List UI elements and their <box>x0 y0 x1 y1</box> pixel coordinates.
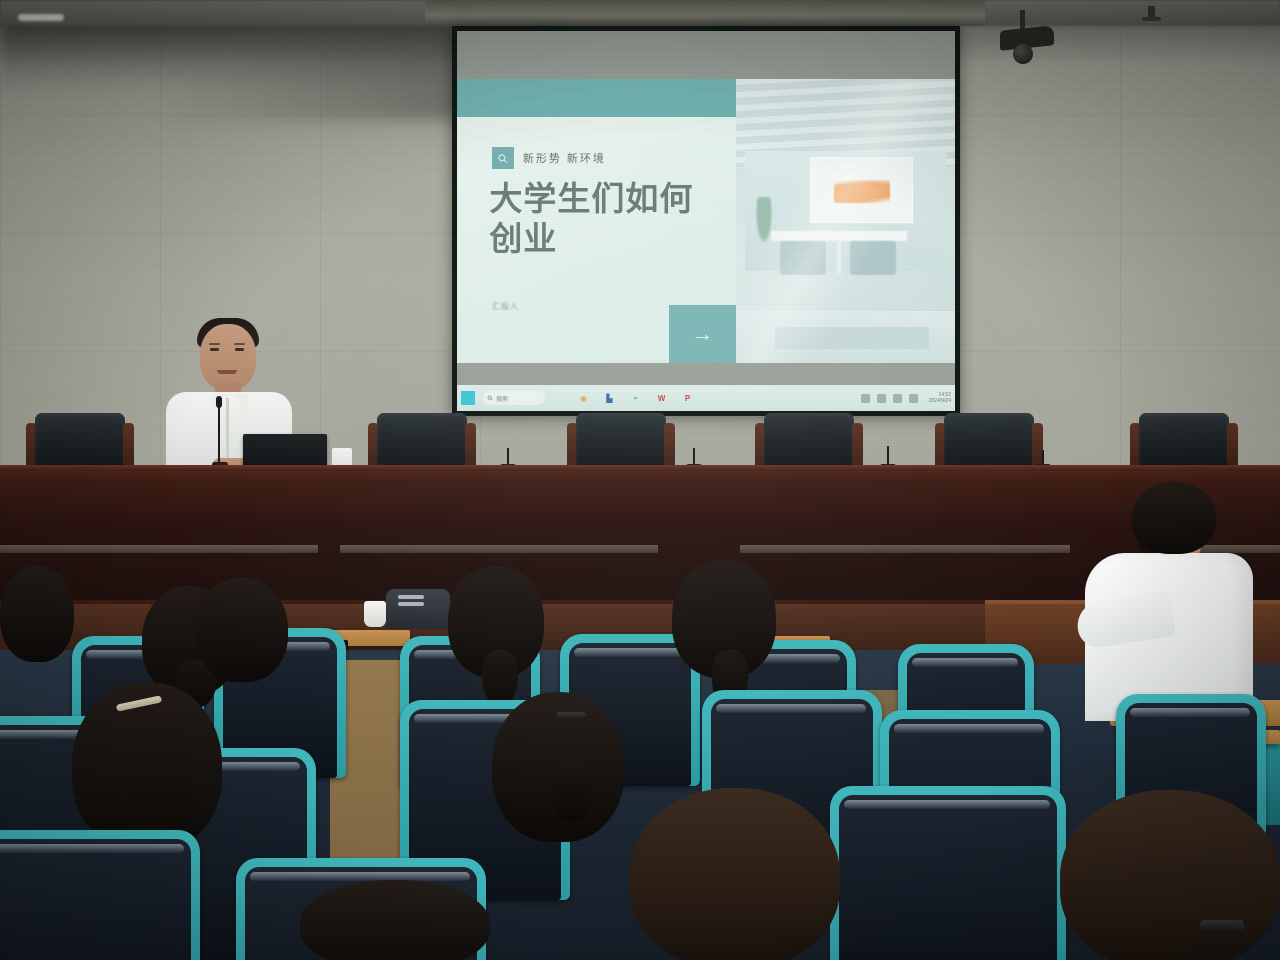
lecture-hall-photo: 新形势 新环境 大学生们如何 创业 汇报人 → <box>0 0 1280 960</box>
sprinkler-head-icon <box>1148 6 1155 18</box>
system-tray: 14:52 2024/9/24 <box>861 392 951 405</box>
camera-lens-icon <box>1013 44 1033 64</box>
slide-eyebrow-text: 新形势 新环境 <box>523 150 606 166</box>
executive-chair <box>935 413 1043 469</box>
slide-photo-panel <box>736 79 955 363</box>
presentation-slide: 新形势 新环境 大学生们如何 创业 汇报人 → <box>457 79 955 363</box>
search-icon <box>492 147 514 169</box>
slide-title-line-1: 大学生们如何 <box>489 179 738 219</box>
wps-writer-icon[interactable]: W <box>655 392 668 405</box>
slide-title-line-2: 创业 <box>489 219 738 259</box>
app-icon-chart[interactable]: ▙ <box>603 392 616 405</box>
camera-mount-icon <box>1020 10 1025 30</box>
clock-date: 2024/9/24 <box>929 398 951 404</box>
slide-title: 大学生们如何 创业 <box>489 179 738 260</box>
taskbar-app-list: ◉ ▙ ◓ W P <box>577 392 694 405</box>
slide-accent-band <box>457 79 736 117</box>
slide-next-arrow-button[interactable]: → <box>669 305 736 363</box>
taskbar-clock[interactable]: 14:52 2024/9/24 <box>929 392 951 405</box>
executive-chair <box>1130 413 1238 469</box>
paper-cup <box>364 601 386 627</box>
search-placeholder: 搜索 <box>496 394 508 403</box>
arrow-right-icon: → <box>691 323 713 345</box>
slide-subtitle: 汇报人 <box>492 301 519 312</box>
ceiling-light <box>18 14 64 21</box>
auditorium-seat <box>0 830 200 960</box>
projection-screen-rail <box>425 0 985 26</box>
slide-eyebrow: 新形势 新环境 <box>492 147 606 169</box>
tray-icon-network[interactable] <box>861 394 870 403</box>
stage-panel-trim <box>0 545 318 553</box>
wps-presentation-icon[interactable]: P <box>681 392 694 405</box>
head-table-edge <box>0 465 1280 471</box>
stage-panel-trim <box>740 545 1070 553</box>
desktop-bottom-band <box>457 363 955 385</box>
tray-icon-battery[interactable] <box>893 394 902 403</box>
executive-chair <box>26 413 134 469</box>
backpack <box>386 589 450 629</box>
auditorium-seat <box>830 786 1066 960</box>
windows-taskbar: 搜索 ◉ ▙ ◓ W P 14:52 2024/9/24 <box>457 385 955 411</box>
projection-screen: 新形势 新环境 大学生们如何 创业 汇报人 → <box>452 26 960 416</box>
search-input[interactable]: 搜索 <box>483 391 545 405</box>
presenter-head <box>200 324 256 390</box>
presenter-laptop <box>243 434 327 468</box>
tray-icon-volume[interactable] <box>877 394 886 403</box>
start-button[interactable] <box>461 391 475 405</box>
presenter-mouth <box>217 370 237 374</box>
app-icon-orange[interactable]: ◉ <box>577 392 590 405</box>
executive-chair <box>368 413 476 469</box>
photo-glare <box>736 79 955 363</box>
tray-icon-ime[interactable] <box>909 394 918 403</box>
app-icon-green[interactable]: ◓ <box>629 392 642 405</box>
stage-panel-trim <box>340 545 658 553</box>
executive-chair <box>567 413 675 469</box>
executive-chair <box>755 413 863 469</box>
desktop-top-band <box>457 31 955 79</box>
